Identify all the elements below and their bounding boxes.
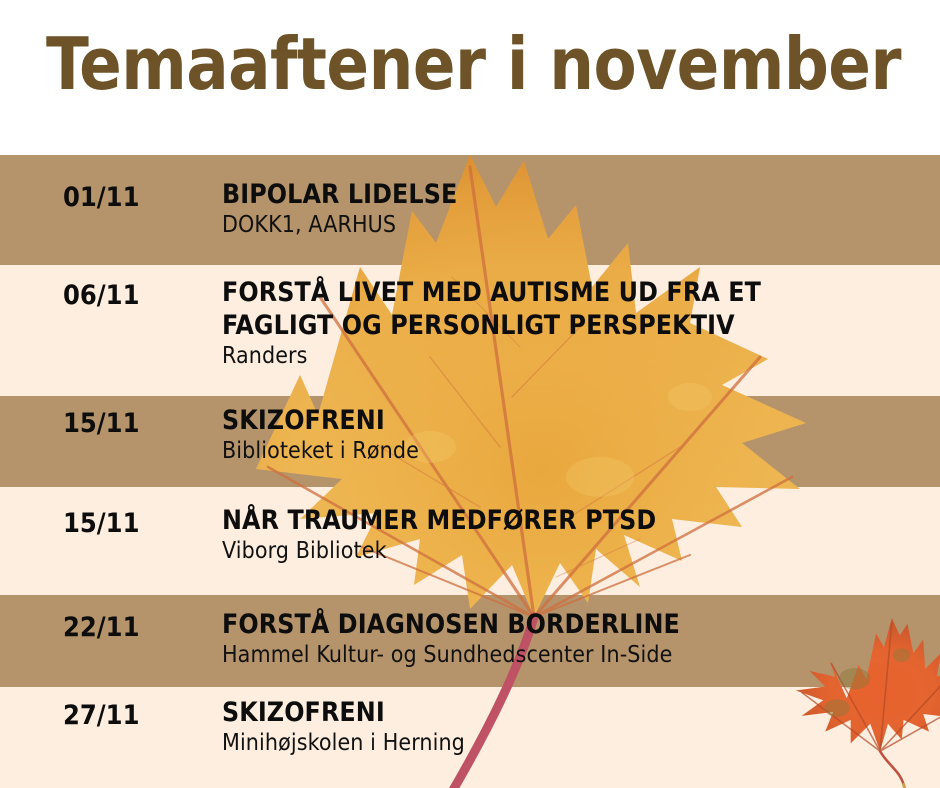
event-body: SKIZOFRENIBiblioteket i Rønde: [222, 404, 922, 466]
poster-header: Temaaftener i november: [0, 0, 940, 155]
event-title-line: SKIZOFRENI: [222, 696, 922, 729]
event-venue: Randers: [222, 342, 922, 371]
event-title-line: NÅR TRAUMER MEDFØRER PTSD: [222, 504, 922, 537]
event-date: 22/11: [63, 612, 139, 643]
event-body: FORSTÅ DIAGNOSEN BORDERLINEHammel Kultur…: [222, 608, 922, 670]
event-body: BIPOLAR LIDELSEDOKK1, AARHUS: [222, 178, 922, 240]
event-title-line: FAGLIGT OG PERSONLIGT PERSPEKTIV: [222, 309, 922, 342]
event-venue: Biblioteket i Rønde: [222, 437, 922, 466]
event-body: SKIZOFRENIMinihøjskolen i Herning: [222, 696, 922, 758]
event-title-line: FORSTÅ DIAGNOSEN BORDERLINE: [222, 608, 922, 641]
event-body: FORSTÅ LIVET MED AUTISME UD FRA ETFAGLIG…: [222, 276, 922, 371]
event-date: 06/11: [63, 280, 139, 311]
event-title-line: FORSTÅ LIVET MED AUTISME UD FRA ET: [222, 276, 922, 309]
event-venue: Hammel Kultur- og Sundhedscenter In-Side: [222, 641, 922, 670]
event-date: 15/11: [63, 508, 139, 539]
event-date: 01/11: [63, 182, 139, 213]
event-body: NÅR TRAUMER MEDFØRER PTSDViborg Bibliote…: [222, 504, 922, 566]
event-venue: Viborg Bibliotek: [222, 537, 922, 566]
event-date: 27/11: [63, 700, 139, 731]
event-date: 15/11: [63, 408, 139, 439]
page-title: Temaaftener i november: [46, 26, 901, 102]
event-title-line: BIPOLAR LIDELSE: [222, 178, 922, 211]
poster-canvas: Temaaftener i november 01/11BIPOLAR LIDE…: [0, 0, 940, 788]
event-venue: DOKK1, AARHUS: [222, 211, 922, 240]
event-venue: Minihøjskolen i Herning: [222, 729, 922, 758]
event-title-line: SKIZOFRENI: [222, 404, 922, 437]
